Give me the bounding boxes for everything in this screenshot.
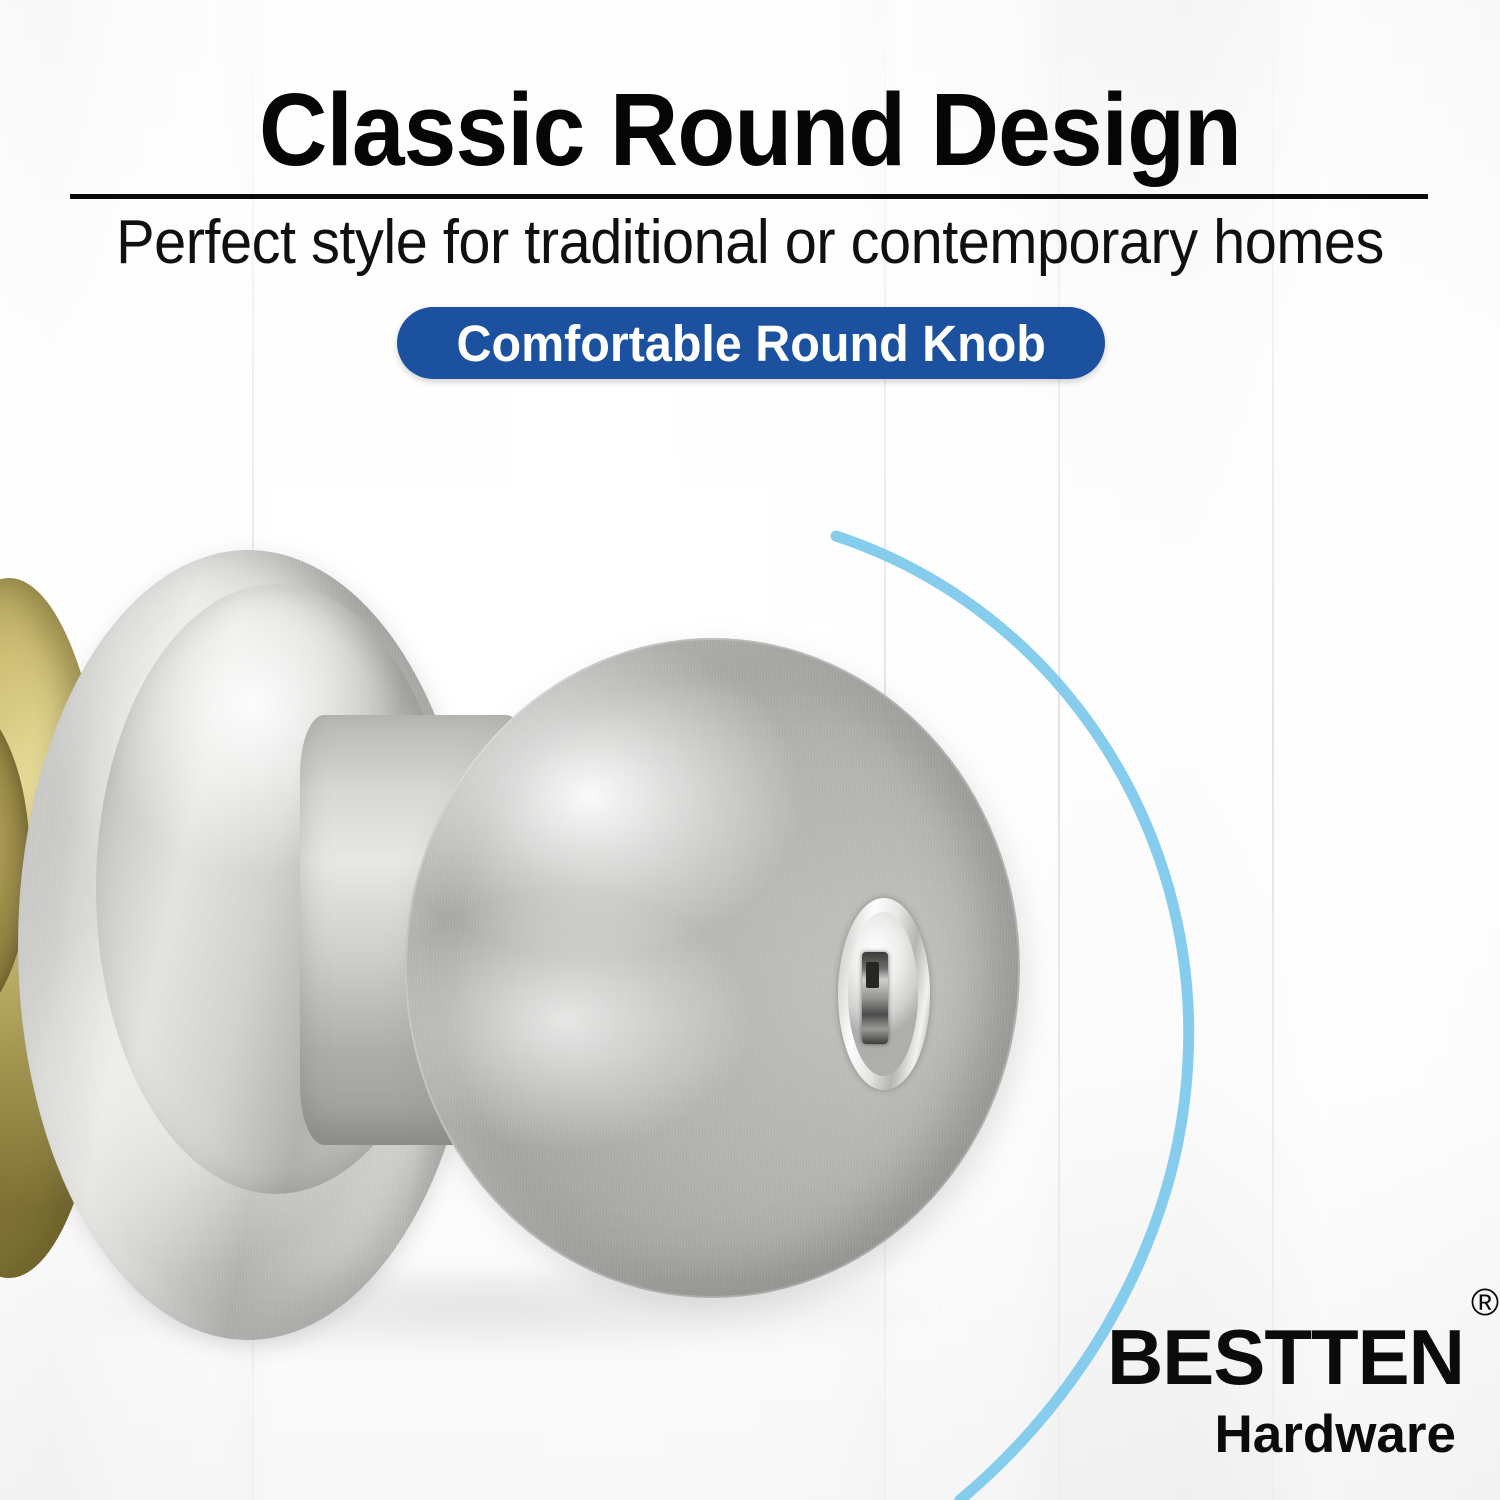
page-title: Classic Round Design [60, 78, 1440, 181]
brand-tagline: Hardware [1107, 1408, 1456, 1461]
registered-trademark-icon: ® [1471, 1284, 1498, 1322]
product-marketing-image: Classic Round Design Perfect style for t… [0, 0, 1500, 1500]
keyway-notch [866, 962, 879, 988]
feature-badge: Comfortable Round Knob [397, 307, 1105, 379]
brand-name: BESTTEN ® [1107, 1318, 1464, 1396]
feature-badge-label: Comfortable Round Knob [456, 318, 1045, 369]
brand-name-text: BESTTEN [1107, 1313, 1464, 1401]
brand-logo: BESTTEN ® Hardware [1107, 1318, 1464, 1461]
page-subtitle: Perfect style for traditional or contemp… [53, 212, 1448, 274]
product-photo [0, 500, 1120, 1360]
title-divider [70, 194, 1428, 199]
